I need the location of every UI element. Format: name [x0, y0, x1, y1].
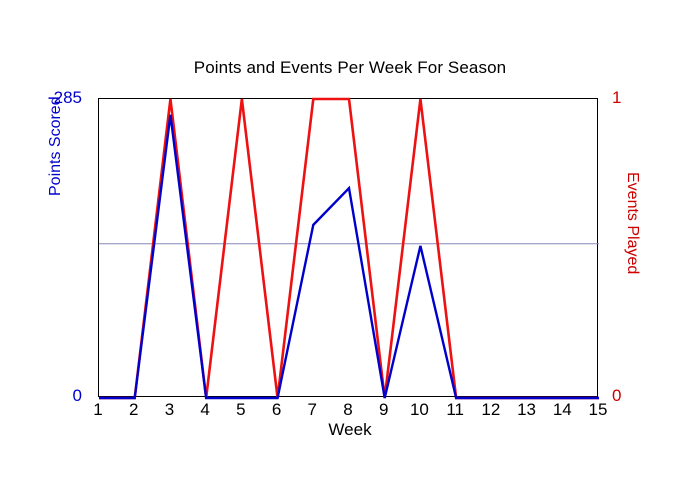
- chart-title: Points and Events Per Week For Season: [0, 58, 700, 78]
- x-axis-tick-label: 8: [333, 400, 363, 420]
- x-axis-tick-label: 13: [512, 400, 542, 420]
- left-axis-tick-min: 0: [18, 386, 82, 406]
- x-axis-tick-label: 12: [476, 400, 506, 420]
- x-axis-tick-label: 4: [190, 400, 220, 420]
- right-axis-tick-max: 1: [612, 88, 676, 108]
- x-axis-tick-label: 14: [547, 400, 577, 420]
- y-axis-label-left: Points Scored: [47, 172, 65, 196]
- plot-canvas: [99, 99, 599, 398]
- x-axis-tick-label: 5: [226, 400, 256, 420]
- x-axis-label: Week: [0, 420, 700, 440]
- x-axis-tick-label: 10: [404, 400, 434, 420]
- chart-figure: Points and Events Per Week For Season 28…: [0, 0, 700, 500]
- x-axis-tick-label: 2: [119, 400, 149, 420]
- points-scored-line: [99, 115, 599, 398]
- x-axis-tick-label: 7: [297, 400, 327, 420]
- x-axis-tick-label: 11: [440, 400, 470, 420]
- x-axis-tick-label: 3: [154, 400, 184, 420]
- plot-area: [98, 98, 598, 397]
- right-axis-tick-min: 0: [612, 386, 676, 406]
- x-axis-tick-label: 6: [262, 400, 292, 420]
- x-axis-tick-label: 15: [583, 400, 613, 420]
- y-axis-label-right: Events Played: [623, 172, 641, 196]
- x-axis-tick-label: 9: [369, 400, 399, 420]
- x-axis-tick-label: 1: [83, 400, 113, 420]
